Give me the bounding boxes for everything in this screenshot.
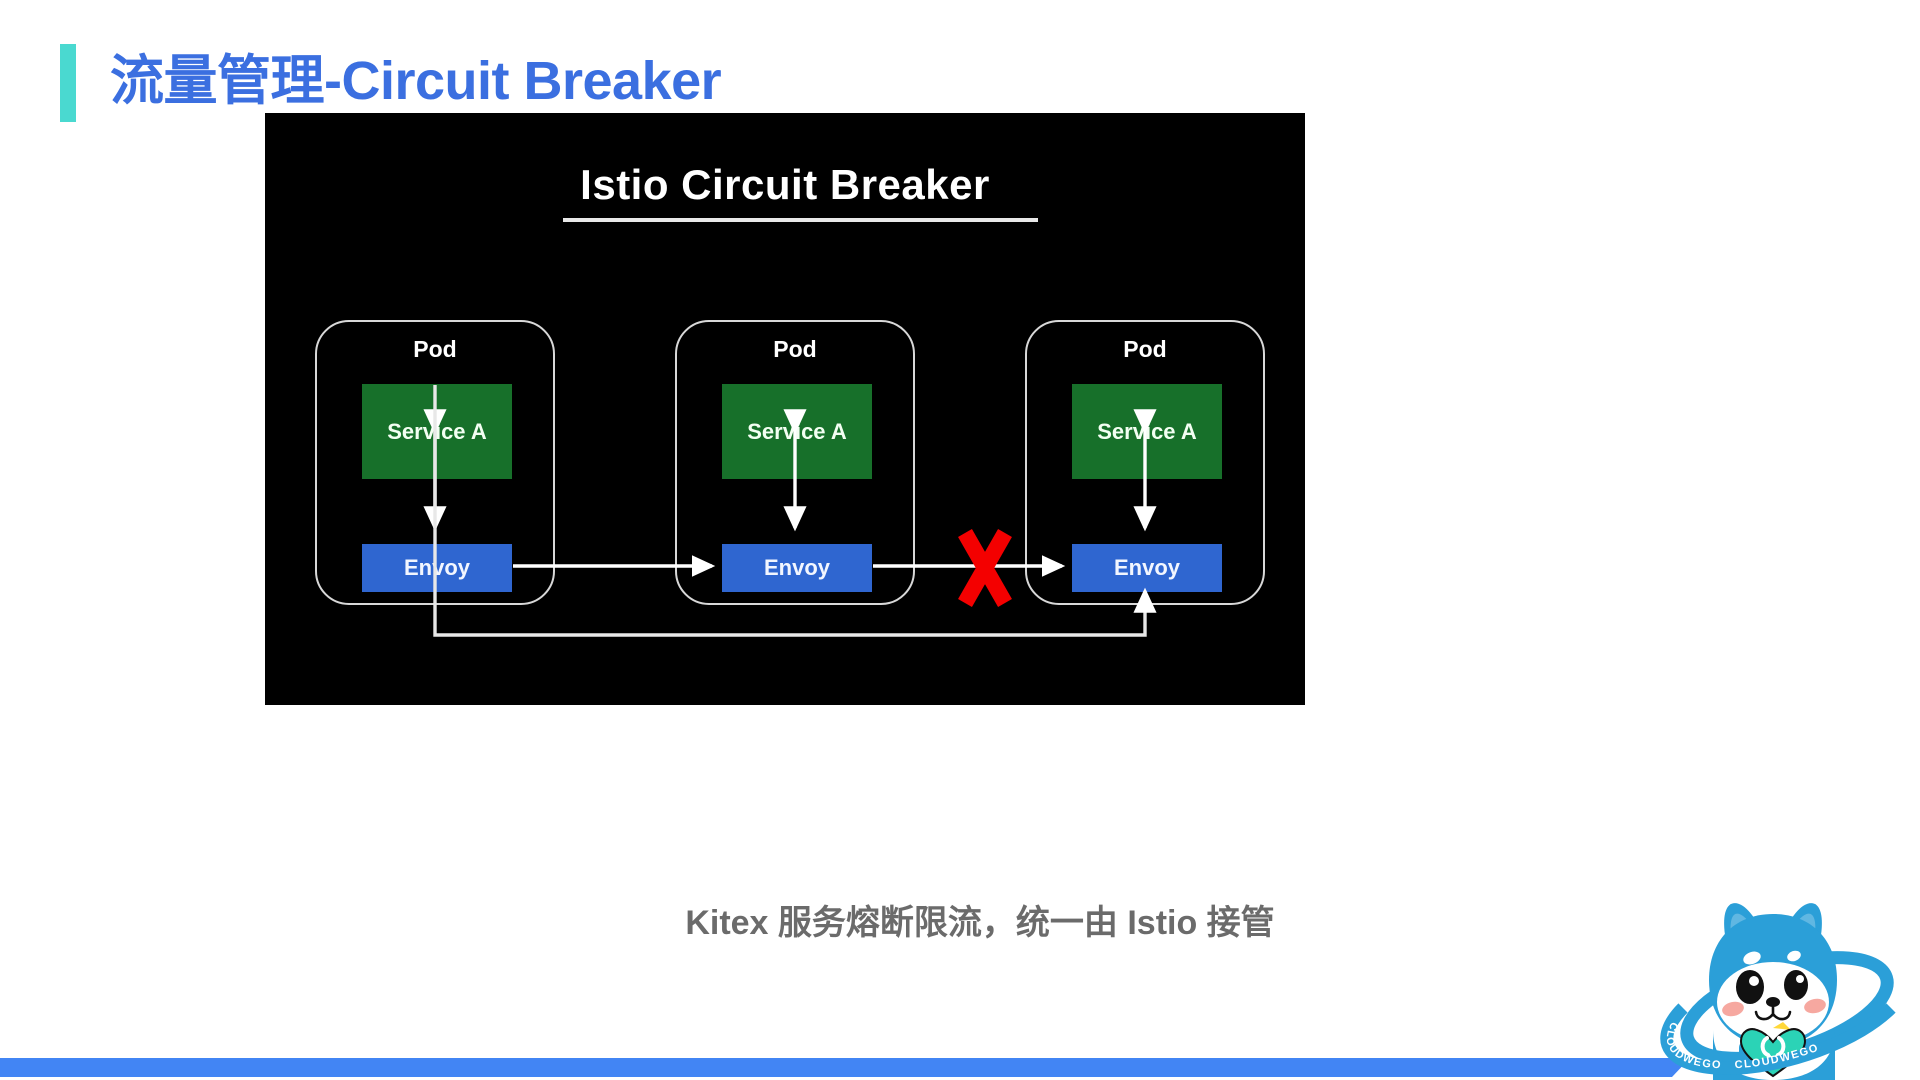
envoy-box-1: Envoy	[362, 544, 512, 592]
page-title: 流量管理-Circuit Breaker	[110, 42, 721, 120]
service-box-1: Service A	[362, 384, 512, 479]
pod-3: Pod Service A Envoy	[1025, 320, 1265, 605]
title-accent-bar	[60, 44, 76, 122]
pod-label: Pod	[677, 336, 913, 363]
envoy-box-2: Envoy	[722, 544, 872, 592]
diagram-title-underline	[563, 218, 1038, 222]
envoy-box-3: Envoy	[1072, 544, 1222, 592]
diagram-panel: Istio Circuit Breaker Pod Service A Envo…	[265, 113, 1305, 705]
diagram-title: Istio Circuit Breaker	[265, 161, 1305, 209]
pod-label: Pod	[1027, 336, 1263, 363]
service-box-2: Service A	[722, 384, 872, 479]
slide-caption: Kitex 服务熔断限流，统一由 Istio 接管	[0, 895, 1920, 944]
mascot-eye-left	[1736, 970, 1764, 1004]
pod-label: Pod	[317, 336, 553, 363]
pod-1: Pod Service A Envoy	[315, 320, 555, 605]
slide-caption-text: Kitex 服务熔断限流，统一由 Istio 接管	[645, 895, 1274, 944]
service-box-3: Service A	[1072, 384, 1222, 479]
cloudwego-logo: CLOUDWEGO CLOUDWEGO	[1655, 880, 1920, 1080]
pod-2: Pod Service A Envoy	[675, 320, 915, 605]
mascot-eye-right	[1784, 970, 1808, 1000]
bottom-accent-bar	[0, 1058, 1690, 1077]
mascot-nose	[1766, 997, 1780, 1007]
broken-link-x	[965, 533, 1005, 603]
